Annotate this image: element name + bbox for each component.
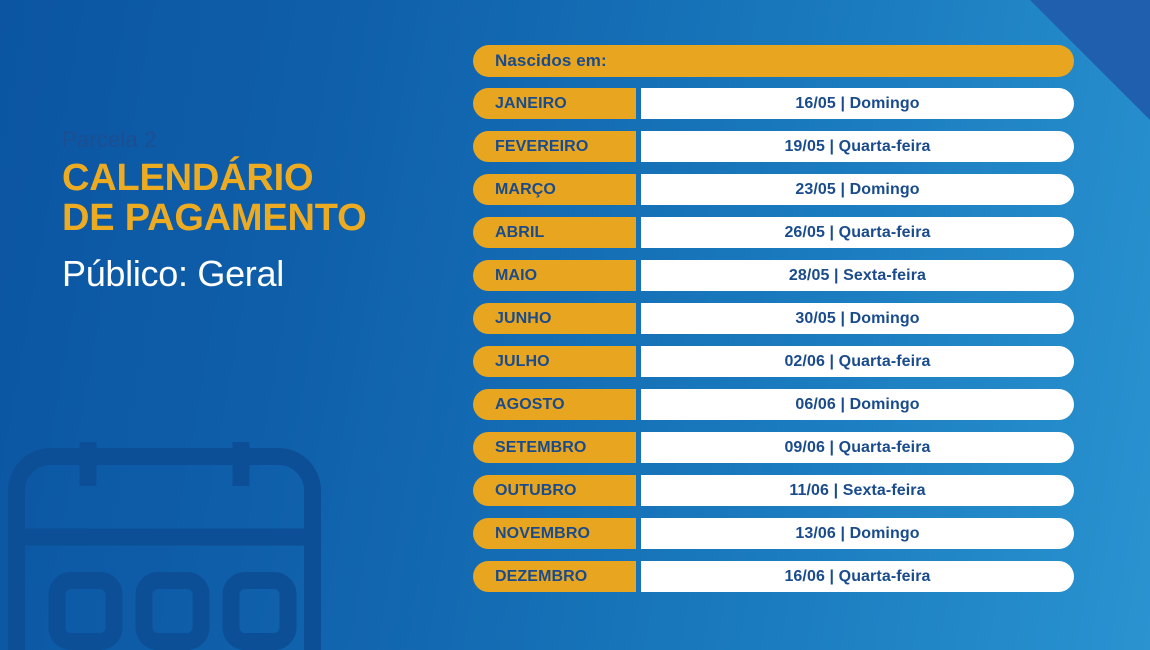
month-label: DEZEMBRO (473, 561, 636, 592)
payment-date-value: 09/06 | Quarta-feira (641, 432, 1074, 463)
payment-date-value: 30/05 | Domingo (641, 303, 1074, 334)
table-row: JANEIRO16/05 | Domingo (473, 88, 1074, 119)
month-label: JANEIRO (473, 88, 636, 119)
payment-date-value: 02/06 | Quarta-feira (641, 346, 1074, 377)
table-row: DEZEMBRO16/06 | Quarta-feira (473, 561, 1074, 592)
month-label: MARÇO (473, 174, 636, 205)
month-label: FEVEREIRO (473, 131, 636, 162)
month-label: ABRIL (473, 217, 636, 248)
audience-label: Público: Geral (62, 253, 442, 294)
installment-label: Parcela 2 (62, 128, 442, 152)
table-row: AGOSTO06/06 | Domingo (473, 389, 1074, 420)
table-row: JUNHO30/05 | Domingo (473, 303, 1074, 334)
payment-date-value: 19/05 | Quarta-feira (641, 131, 1074, 162)
month-label: JULHO (473, 346, 636, 377)
table-row: MARÇO23/05 | Domingo (473, 174, 1074, 205)
month-label: JUNHO (473, 303, 636, 334)
payment-date-value: 16/06 | Quarta-feira (641, 561, 1074, 592)
table-row: ABRIL26/05 | Quarta-feira (473, 217, 1074, 248)
table-row: NOVEMBRO13/06 | Domingo (473, 518, 1074, 549)
payment-date-value: 11/06 | Sexta-feira (641, 475, 1074, 506)
table-row: FEVEREIRO19/05 | Quarta-feira (473, 131, 1074, 162)
month-label: OUTUBRO (473, 475, 636, 506)
page-title-line2: DE PAGAMENTO (62, 198, 442, 238)
month-label: AGOSTO (473, 389, 636, 420)
payment-date-value: 26/05 | Quarta-feira (641, 217, 1074, 248)
table-header-label: Nascidos em: (495, 51, 607, 71)
month-label: MAIO (473, 260, 636, 291)
payment-date-value: 13/06 | Domingo (641, 518, 1074, 549)
page-title: CALENDÁRIO DE PAGAMENTO (62, 158, 442, 239)
month-label: NOVEMBRO (473, 518, 636, 549)
payment-date-value: 23/05 | Domingo (641, 174, 1074, 205)
payment-date-value: 28/05 | Sexta-feira (641, 260, 1074, 291)
table-header: Nascidos em: (473, 45, 1074, 77)
table-row: OUTUBRO11/06 | Sexta-feira (473, 475, 1074, 506)
payment-date-value: 06/06 | Domingo (641, 389, 1074, 420)
page-title-line1: CALENDÁRIO (62, 157, 313, 199)
table-body: JANEIRO16/05 | DomingoFEVEREIRO19/05 | Q… (473, 88, 1074, 592)
calendar-poster: Parcela 2 CALENDÁRIO DE PAGAMENTO Públic… (0, 0, 1150, 650)
table-row: JULHO02/06 | Quarta-feira (473, 346, 1074, 377)
payment-schedule-table: Nascidos em: JANEIRO16/05 | DomingoFEVER… (473, 45, 1074, 592)
calendar-icon (8, 424, 338, 650)
table-row: SETEMBRO09/06 | Quarta-feira (473, 432, 1074, 463)
payment-date-value: 16/05 | Domingo (641, 88, 1074, 119)
hero-text-block: Parcela 2 CALENDÁRIO DE PAGAMENTO Públic… (62, 128, 442, 294)
month-label: SETEMBRO (473, 432, 636, 463)
table-row: MAIO28/05 | Sexta-feira (473, 260, 1074, 291)
